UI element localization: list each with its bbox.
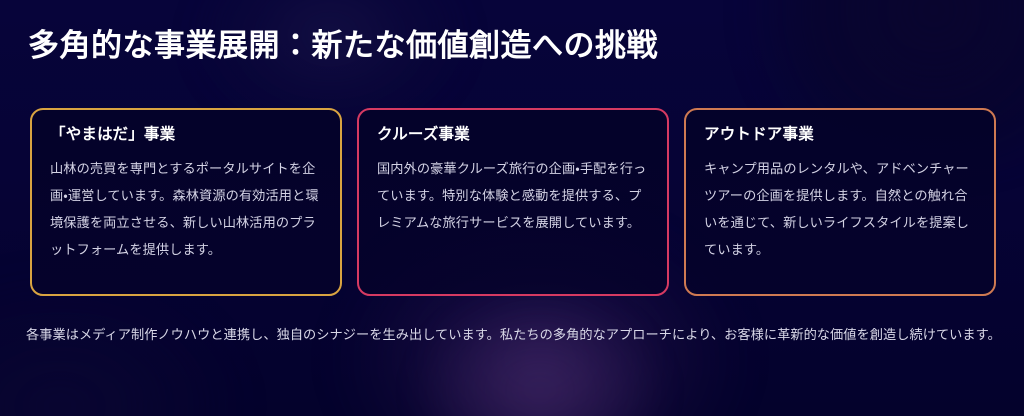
card-body-cruise: 国内外の豪華クルーズ旅行の企画・手配を行っています。特別な体験と感動を提供する、… <box>377 155 649 236</box>
card-title-outdoor: アウトドア事業 <box>704 124 976 146</box>
business-cards-row: 「やまはだ」事業 山林の売買を専門とするポータルサイトを企画・運営しています。森… <box>30 108 996 296</box>
page-content: 多角的な事業展開：新たな価値創造への挑戦 「やまはだ」事業 山林の売買を専門とす… <box>0 0 1024 416</box>
card-title-yamahada: 「やまはだ」事業 <box>50 124 322 146</box>
page-title: 多角的な事業展開：新たな価値創造への挑戦 <box>28 26 658 66</box>
card-body-yamahada: 山林の売買を専門とするポータルサイトを企画・運営しています。森林資源の有効活用と… <box>50 155 322 263</box>
card-title-cruise: クルーズ事業 <box>377 124 649 146</box>
page-stage: 多角的な事業展開：新たな価値創造への挑戦 「やまはだ」事業 山林の売買を専門とす… <box>0 0 1024 416</box>
business-card-yamahada[interactable]: 「やまはだ」事業 山林の売買を専門とするポータルサイトを企画・運営しています。森… <box>30 108 342 296</box>
business-card-cruise[interactable]: クルーズ事業 国内外の豪華クルーズ旅行の企画・手配を行っています。特別な体験と感… <box>357 108 669 296</box>
card-body-outdoor: キャンプ用品のレンタルや、アドベンチャーツアーの企画を提供します。自然との触れ合… <box>704 155 976 263</box>
footer-summary-text: 各事業はメディア制作ノウハウと連携し、独自のシナジーを生み出しています。私たちの… <box>26 320 1004 350</box>
business-card-outdoor[interactable]: アウトドア事業 キャンプ用品のレンタルや、アドベンチャーツアーの企画を提供します… <box>684 108 996 296</box>
